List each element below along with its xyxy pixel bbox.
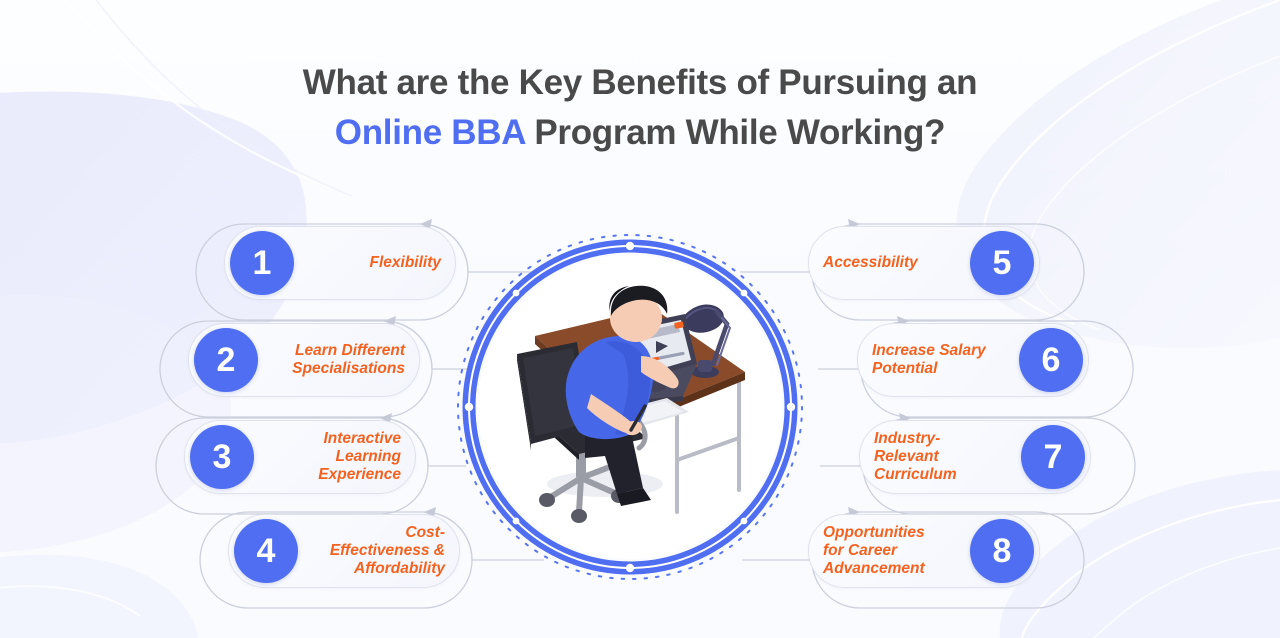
benefit-item-6[interactable]: 6 Increase Salary Potential [857,323,1089,397]
title-line-2: Online BBA Program While Working? [0,108,1280,158]
student-at-desk-illustration [455,232,805,582]
benefit-label-5: Accessibility [809,254,970,272]
benefit-label-2: Learn Different Specialisations [258,342,419,378]
benefit-number-7: 7 [1021,425,1085,489]
title-line-1: What are the Key Benefits of Pursuing an [0,58,1280,108]
benefit-number-2: 2 [194,328,258,392]
infographic-canvas: What are the Key Benefits of Pursuing an… [0,0,1280,638]
benefit-item-3[interactable]: 3 Interactive Learning Experience [184,420,416,494]
benefit-item-5[interactable]: 5 Accessibility [808,226,1040,300]
benefit-number-1: 1 [230,231,294,295]
benefit-item-8[interactable]: 8 Opportunities for Career Advancement [808,514,1040,588]
benefit-number-8: 8 [970,519,1034,583]
benefit-label-1: Flexibility [294,254,455,272]
benefit-item-7[interactable]: 7 Industry- Relevant Curriculum [859,420,1091,494]
benefit-label-7: Industry- Relevant Curriculum [860,430,1021,484]
benefit-label-8: Opportunities for Career Advancement [809,524,970,578]
benefit-item-4[interactable]: 4 Cost- Effectiveness & Affordability [228,514,460,588]
center-illustration [455,232,805,582]
title-accent-online-bba: Online BBA [335,113,525,152]
benefit-number-4: 4 [234,519,298,583]
page-title: What are the Key Benefits of Pursuing an… [0,58,1280,158]
benefit-number-5: 5 [970,231,1034,295]
benefit-item-1[interactable]: 1 Flexibility [224,226,456,300]
benefit-item-2[interactable]: 2 Learn Different Specialisations [188,323,420,397]
benefit-number-6: 6 [1019,328,1083,392]
benefit-number-3: 3 [190,425,254,489]
benefit-label-6: Increase Salary Potential [858,342,1019,378]
title-line-2-rest: Program While Working? [525,113,945,152]
benefit-label-3: Interactive Learning Experience [254,430,415,484]
benefit-label-4: Cost- Effectiveness & Affordability [298,524,459,578]
